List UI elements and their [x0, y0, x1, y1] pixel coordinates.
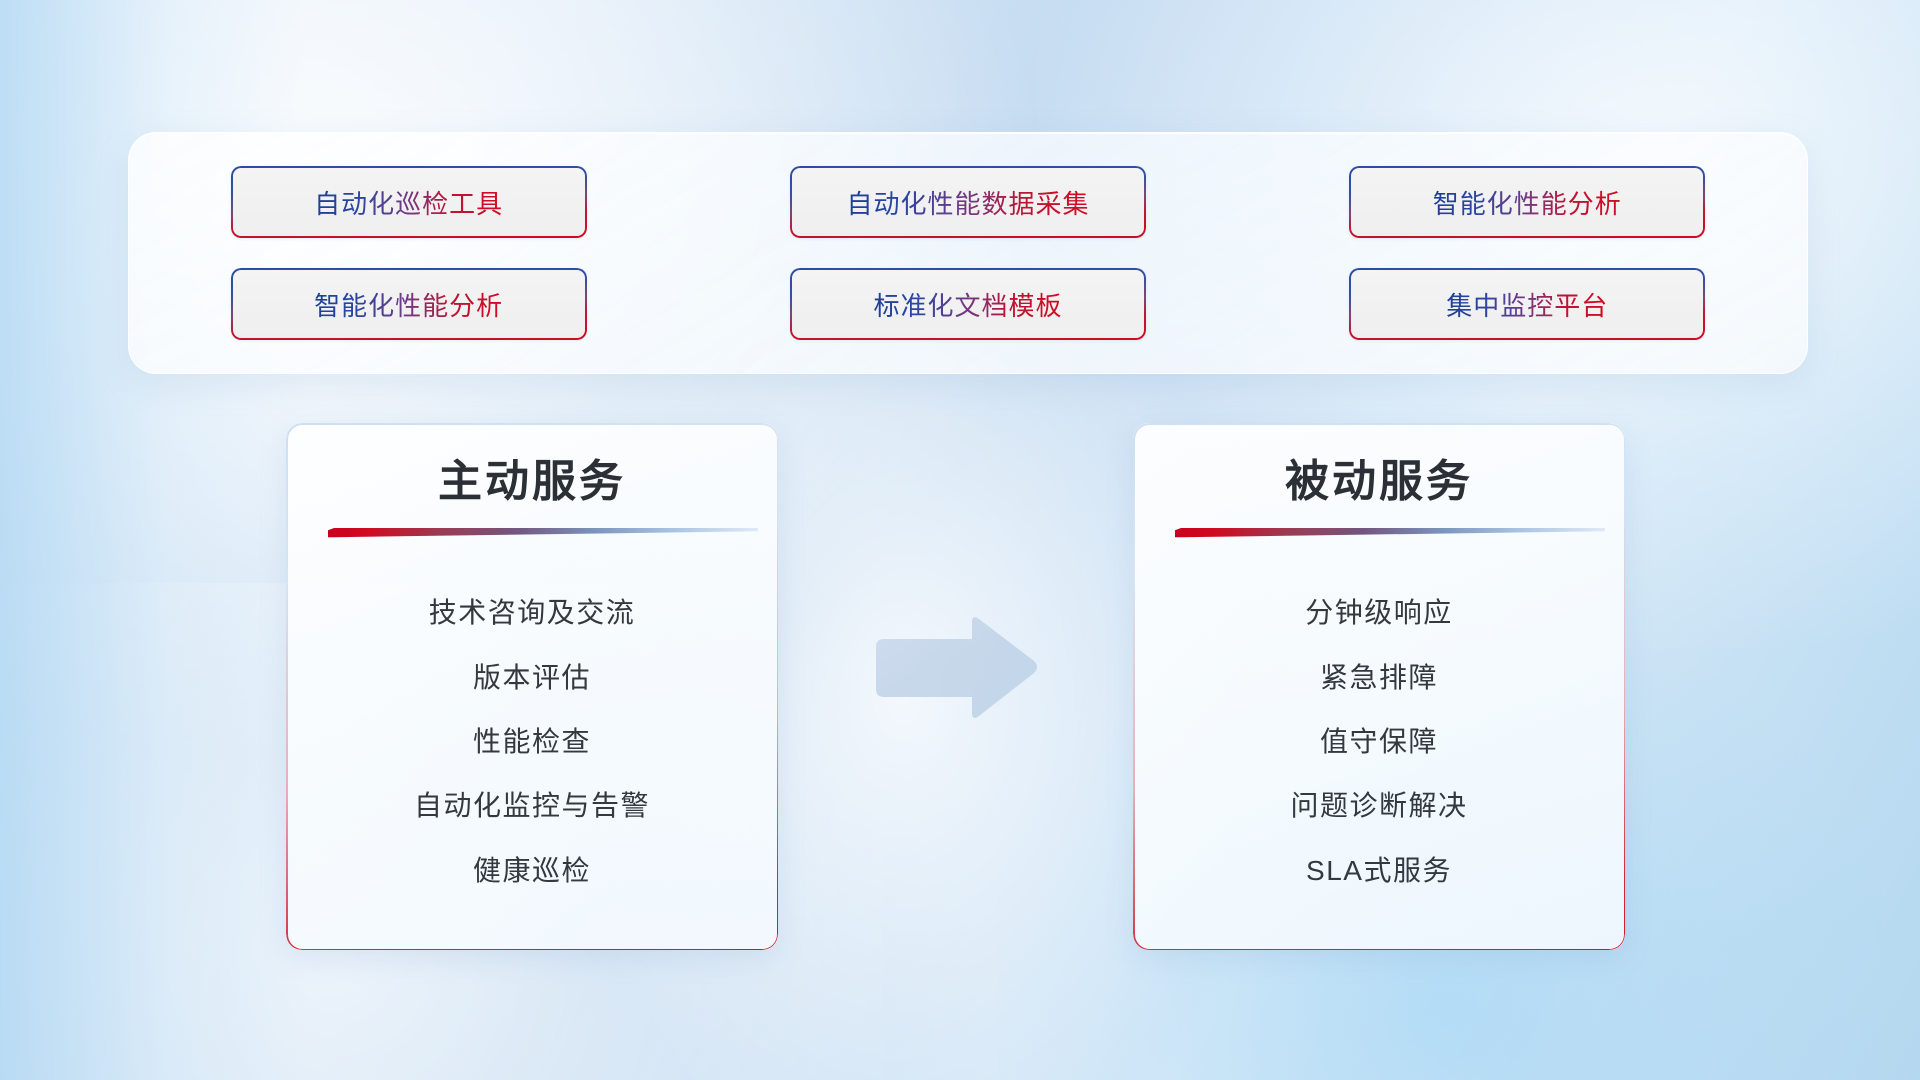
active-service-card: 主动服务	[286, 423, 778, 950]
capability-pill-label: 智能化性能分析	[1433, 184, 1622, 221]
list-item: 版本评估	[473, 661, 591, 695]
list-item: 自动化监控与告警	[414, 789, 650, 823]
gradient-divider-icon	[328, 528, 758, 539]
capability-pill-central-monitoring-platform[interactable]: 集中监控平台	[1349, 268, 1705, 340]
capability-pill-label: 自动化性能数据采集	[846, 184, 1089, 221]
capability-row-1: 自动化巡检工具 自动化性能数据采集 智能化性能分析	[129, 166, 1807, 238]
active-service-title: 主动服务	[438, 457, 626, 508]
list-item: 性能检查	[473, 725, 591, 759]
active-service-divider-wrap	[326, 528, 738, 540]
capability-pill-auto-performance-collection[interactable]: 自动化性能数据采集	[790, 166, 1146, 238]
capability-pill-auto-inspection-tool[interactable]: 自动化巡检工具	[231, 166, 587, 238]
passive-service-card: 被动服务	[1133, 423, 1625, 950]
list-item: 技术咨询及交流	[429, 596, 636, 630]
passive-service-divider-wrap	[1173, 528, 1585, 540]
capability-panel: 自动化巡检工具 自动化性能数据采集 智能化性能分析 智能化性能分析 标准化文档模…	[128, 132, 1808, 374]
capability-pill-label: 标准化文档模板	[873, 286, 1062, 323]
list-item: 分钟级响应	[1305, 596, 1453, 630]
capability-pill-standard-doc-template[interactable]: 标准化文档模板	[790, 268, 1146, 340]
capability-pill-label: 集中监控平台	[1446, 286, 1608, 323]
flow-arrow-right-icon	[868, 613, 1040, 723]
gradient-divider-icon	[1175, 528, 1605, 539]
capability-pill-label: 自动化巡检工具	[314, 184, 503, 221]
capability-pill-smart-performance-analysis-2[interactable]: 智能化性能分析	[231, 268, 587, 340]
list-item: 问题诊断解决	[1290, 789, 1467, 823]
list-item: SLA式服务	[1306, 854, 1452, 888]
passive-service-title: 被动服务	[1285, 457, 1473, 508]
active-service-item-list: 技术咨询及交流 版本评估 性能检查 自动化监控与告警 健康巡检	[326, 566, 738, 924]
passive-service-item-list: 分钟级响应 紧急排障 值守保障 问题诊断解决 SLA式服务	[1173, 566, 1585, 924]
list-item: 值守保障	[1320, 725, 1438, 759]
capability-pill-smart-performance-analysis[interactable]: 智能化性能分析	[1349, 166, 1705, 238]
capability-row-2: 智能化性能分析 标准化文档模板 集中监控平台	[129, 268, 1807, 340]
list-item: 紧急排障	[1320, 661, 1438, 695]
list-item: 健康巡检	[473, 854, 591, 888]
capability-pill-label: 智能化性能分析	[314, 286, 503, 323]
